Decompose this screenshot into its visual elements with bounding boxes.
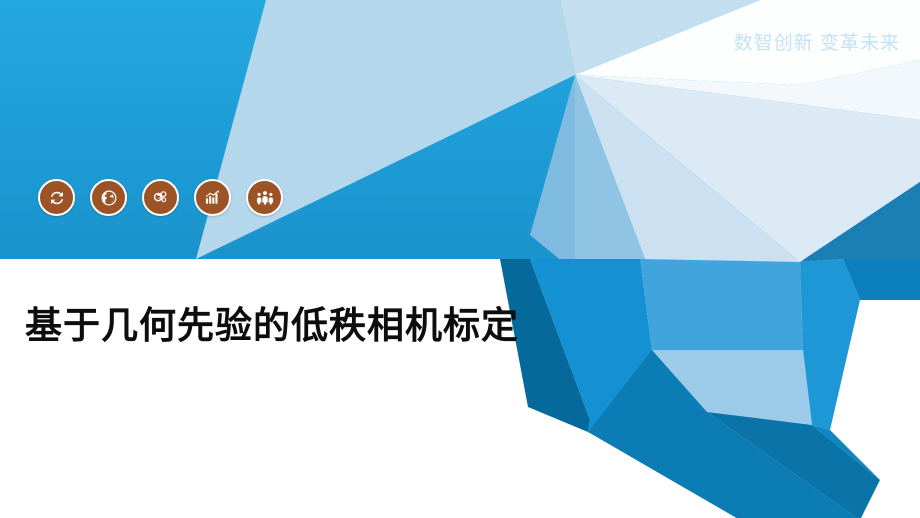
gears-icon[interactable] [142,179,179,216]
facet-lower-midblue [640,259,803,350]
team-people-icon[interactable] [246,179,283,216]
refresh-cycle-icon[interactable] [38,179,75,216]
bar-chart-icon[interactable] [194,179,231,216]
geometric-polygon-artwork [0,0,920,518]
icon-row [38,179,283,216]
presentation-slide: 数智创新 变革未来 [0,0,920,518]
slide-tagline: 数智创新 变革未来 [734,28,900,55]
page-title: 基于几何先验的低秩相机标定 [25,296,545,356]
globe-icon[interactable] [90,179,127,216]
facet-medium-blue-left [530,75,575,272]
facet-pale-top-left [196,0,575,259]
